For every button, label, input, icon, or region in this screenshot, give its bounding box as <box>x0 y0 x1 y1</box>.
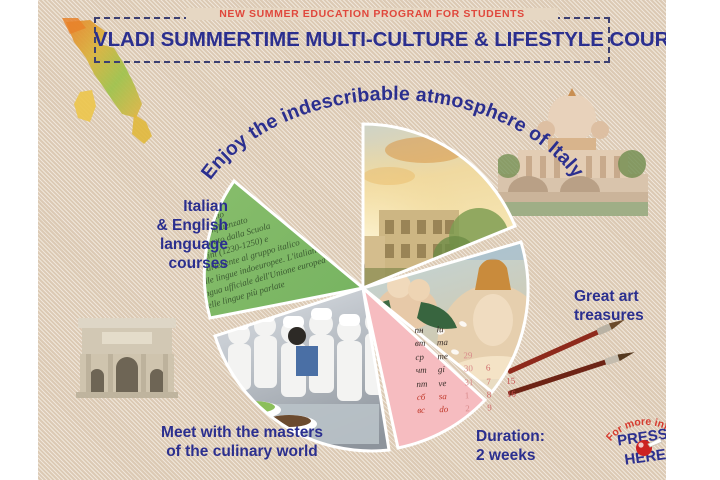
header-subtitle: NEW SUMMER EDUCATION PROGRAM FOR STUDENT… <box>186 8 558 20</box>
calendar-cell: 31 <box>464 376 473 390</box>
calendar-cell: sa <box>439 390 450 404</box>
label-line: Great art <box>574 288 639 305</box>
calendar-cell: ma <box>437 336 448 350</box>
label-duration: Duration:2 weeks <box>476 428 596 466</box>
label-line: 2 weeks <box>476 447 535 464</box>
calendar-table: пнвтсрчтптсбвс lumamegivesado 29303112 6… <box>414 320 537 424</box>
label-culinary-masters: Meet with the mastersof the culinary wor… <box>94 424 390 462</box>
calendar-week-3: 1516 <box>506 374 516 401</box>
calendar-cell: пт <box>416 377 427 391</box>
calendar-cell: вс <box>417 404 428 418</box>
label-great-art-treasures: Great arttreasures <box>574 288 666 326</box>
badge-button-icon[interactable] <box>636 440 652 456</box>
calendar-cell: пн <box>414 324 425 338</box>
calendar-cell: me <box>437 350 448 364</box>
calendar-cell: ср <box>415 351 426 365</box>
label-line: Italian <box>183 198 228 215</box>
calendar-cell: 7 <box>486 375 491 389</box>
label-line: & English <box>157 217 228 234</box>
calendar-cell: вт <box>415 337 426 351</box>
label-line: treasures <box>574 307 644 324</box>
poster-root: NEW SUMMER EDUCATION PROGRAM FOR STUDENT… <box>0 0 720 480</box>
calendar-week-2: 6789 <box>486 362 492 416</box>
calendar-cell: сб <box>417 391 428 405</box>
calendar-cell: gi <box>438 363 449 377</box>
header-title: VLADI SUMMERTIME MULTI-CULTURE & LIFESTY… <box>94 28 610 52</box>
calendar-week-1: 29303112 <box>463 349 474 416</box>
calendar-days-it: lumamegivesado <box>436 323 450 417</box>
label-line: of the culinary world <box>166 443 318 460</box>
calendar-cell: 8 <box>487 388 492 402</box>
calendar-cell: 29 <box>463 349 472 363</box>
label-line: language <box>160 236 228 253</box>
poster-canvas: NEW SUMMER EDUCATION PROGRAM FOR STUDENT… <box>38 0 666 480</box>
calendar-cell: 9 <box>487 402 492 416</box>
calendar-cell: 15 <box>506 374 515 388</box>
calendar-cell: lu <box>436 323 447 337</box>
calendar-cell: чт <box>416 364 427 378</box>
label-line: Meet with the masters <box>161 424 323 441</box>
calendar-days-ru: пнвтсрчтптсбвс <box>414 324 428 418</box>
label-line: courses <box>169 255 228 272</box>
calendar-cell: 6 <box>486 362 491 376</box>
calendar-cell: 2 <box>465 403 474 417</box>
arch-of-constantine-icon <box>72 300 182 400</box>
label-line: Duration: <box>476 428 545 445</box>
calendar-cell: 1 <box>465 389 474 403</box>
press-here-badge[interactable]: For more info PRESS HERE <box>596 400 666 478</box>
calendar-cell: 16 <box>507 388 516 402</box>
label-language-courses: Italian& Englishlanguagecourses <box>86 198 228 274</box>
calendar-cell: 30 <box>464 362 473 376</box>
calendar-cell: ve <box>438 377 449 391</box>
calendar-cell: do <box>439 403 450 417</box>
